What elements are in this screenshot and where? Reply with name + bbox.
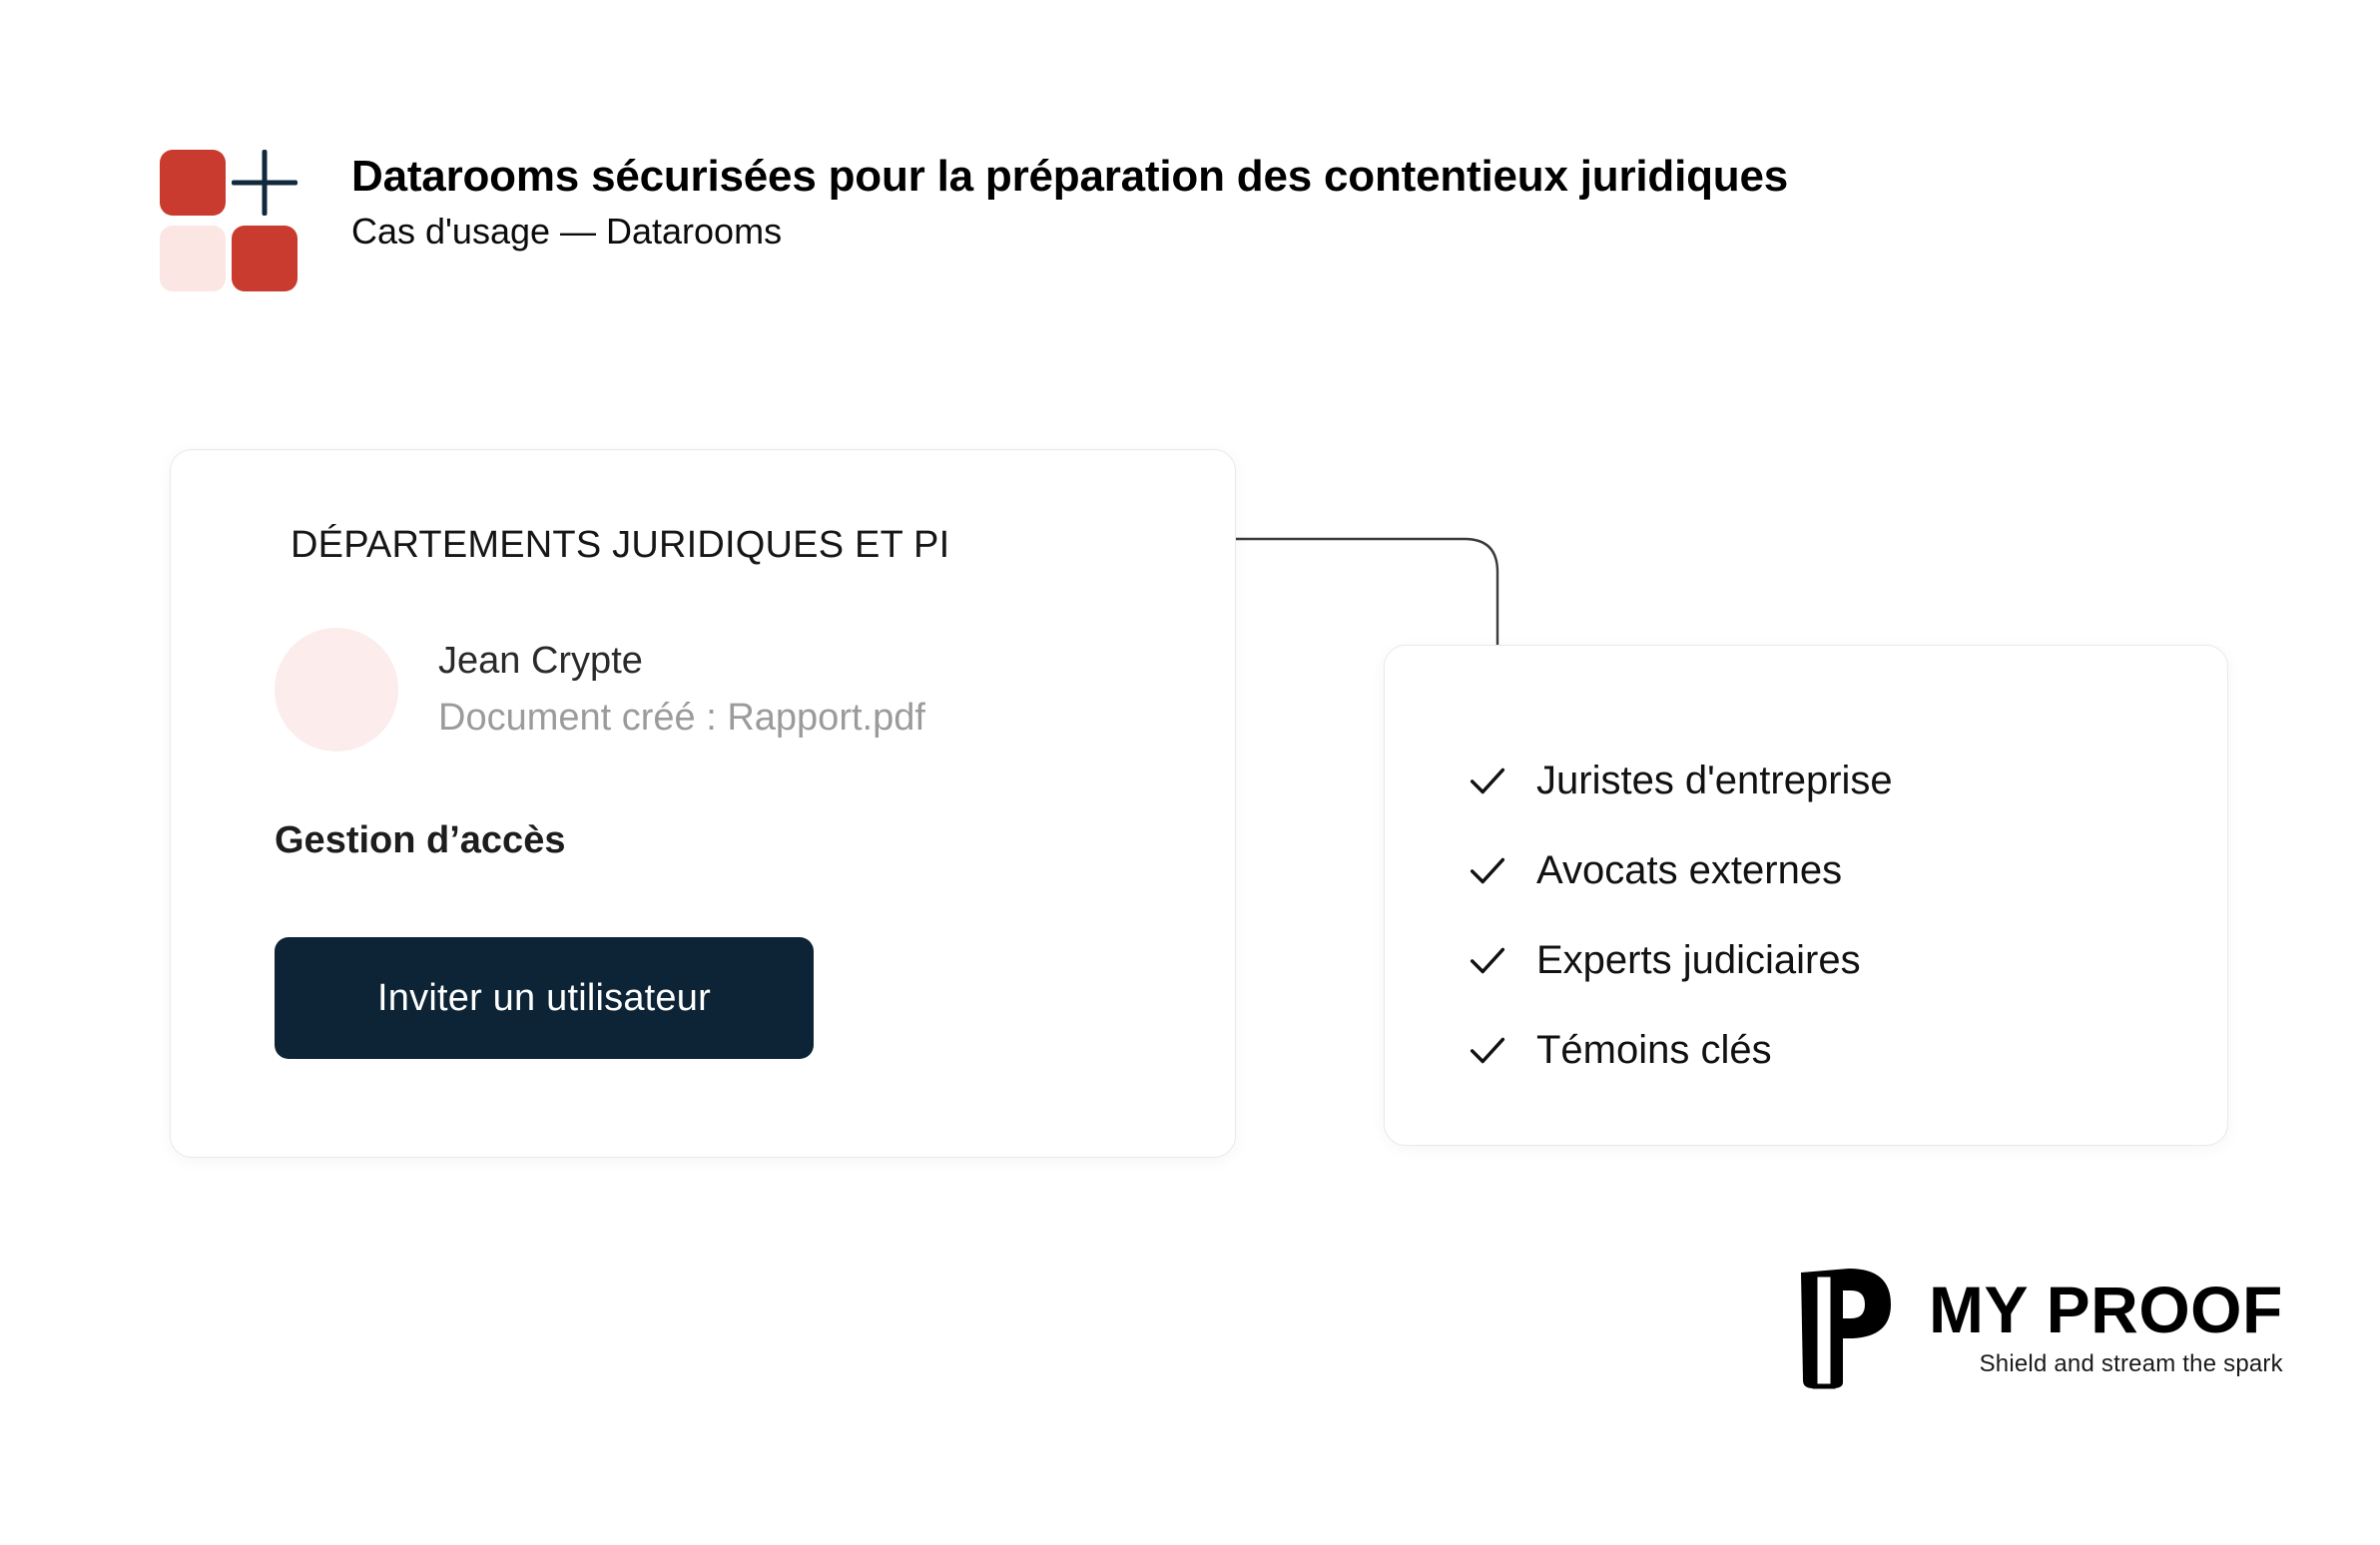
- my-proof-logo: MY PROOF Shield and stream the spark: [1787, 1263, 2283, 1392]
- user-name: Jean Crypte: [438, 636, 925, 687]
- logo-text-block: MY PROOF Shield and stream the spark: [1929, 1277, 2283, 1378]
- legal-department-card: DÉPARTEMENTS JURIDIQUES ET PI Jean Crypt…: [170, 449, 1236, 1158]
- page-header: Datarooms sécurisées pour la préparation…: [160, 150, 2156, 301]
- participants-card: Juristes d'entreprise Avocats externes E…: [1384, 645, 2228, 1146]
- red-square-icon-2: [232, 226, 297, 291]
- user-meta: Jean Crypte Document créé : Rapport.pdf: [438, 636, 925, 745]
- list-item: Experts judiciaires: [1465, 915, 1893, 1005]
- logo-tagline: Shield and stream the spark: [1929, 1350, 2283, 1378]
- check-icon: [1465, 758, 1510, 803]
- check-icon: [1465, 937, 1510, 983]
- page-title: Datarooms sécurisées pour la préparation…: [351, 152, 1788, 202]
- plus-icon: [232, 150, 297, 216]
- avatar: [275, 628, 398, 752]
- invite-user-button[interactable]: Inviter un utilisateur: [275, 937, 814, 1059]
- check-icon: [1465, 1027, 1510, 1073]
- logo-wordmark: MY PROOF: [1929, 1277, 2283, 1342]
- red-square-icon: [160, 150, 226, 216]
- user-activity-row: Jean Crypte Document créé : Rapport.pdf: [275, 628, 925, 752]
- list-item: Juristes d'entreprise: [1465, 736, 1893, 825]
- department-title: DÉPARTEMENTS JURIDIQUES ET PI: [291, 524, 949, 567]
- access-management-heading: Gestion d’accès: [275, 819, 565, 862]
- list-item-label: Témoins clés: [1536, 1028, 1772, 1073]
- list-item: Témoins clés: [1465, 1005, 1893, 1095]
- list-item-label: Experts judiciaires: [1536, 938, 1861, 983]
- proof-p-mark-icon: [1787, 1263, 1907, 1392]
- list-item: Avocats externes: [1465, 825, 1893, 915]
- check-icon: [1465, 847, 1510, 893]
- page-subtitle: Cas d'usage — Datarooms: [351, 210, 1788, 253]
- brand-mark: [160, 150, 309, 301]
- pale-square-icon: [160, 226, 226, 291]
- list-item-label: Juristes d'entreprise: [1536, 759, 1893, 803]
- header-text-block: Datarooms sécurisées pour la préparation…: [351, 150, 1788, 253]
- participants-checklist: Juristes d'entreprise Avocats externes E…: [1465, 736, 1893, 1095]
- list-item-label: Avocats externes: [1536, 848, 1842, 893]
- user-activity-text: Document créé : Rapport.pdf: [438, 693, 925, 744]
